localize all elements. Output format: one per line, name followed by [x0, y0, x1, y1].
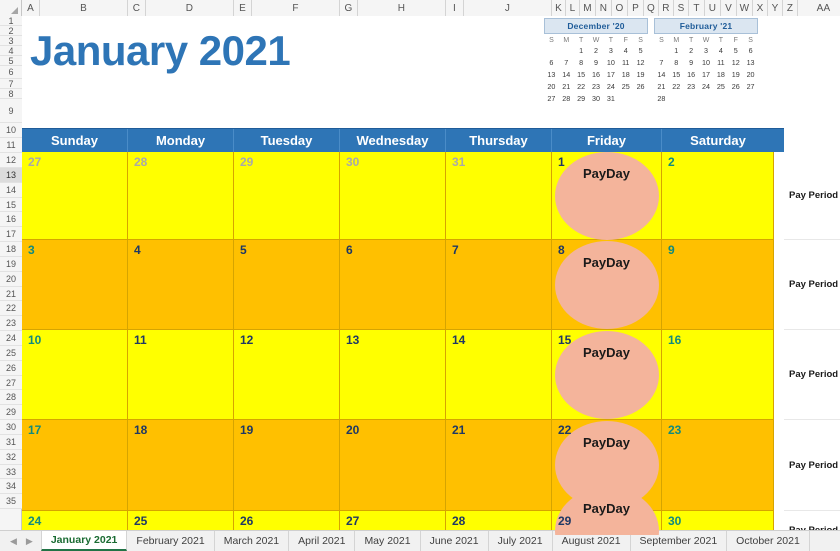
row-header-4[interactable]: 4 — [0, 46, 22, 56]
day-number: 2 — [668, 155, 675, 169]
day-number: 3 — [28, 243, 35, 257]
mini-day-16: 16 — [589, 69, 604, 81]
sheet-nav-next-icon[interactable]: ▶ — [26, 536, 33, 547]
mini-day-15: 15 — [669, 69, 684, 81]
mini-day-10: 10 — [699, 57, 714, 69]
mini-calendar-0: December '20SMTWTFS..1234567891011121314… — [544, 18, 648, 104]
mini-day-16: 16 — [684, 69, 699, 81]
day-number: 6 — [346, 243, 353, 257]
mini-day-3: 3 — [603, 45, 618, 57]
day-number: 10 — [28, 333, 41, 347]
calendar-week-row: 1718192021PayDay2223 — [22, 420, 784, 511]
row-header-31[interactable]: 31 — [0, 435, 22, 450]
day-number: 30 — [668, 514, 681, 528]
calendar-day-cell[interactable]: 23 — [662, 420, 774, 511]
column-header-H[interactable]: H — [358, 0, 446, 16]
mini-day-9: 9 — [684, 57, 699, 69]
weekday-header-tuesday: Tuesday — [234, 129, 340, 152]
day-number: 22 — [558, 423, 571, 437]
mini-calendars: December '20SMTWTFS..1234567891011121314… — [544, 18, 758, 104]
mini-day-30: 30 — [589, 92, 604, 104]
mini-day-12: 12 — [633, 57, 648, 69]
row-header-29[interactable]: 29 — [0, 405, 22, 420]
mini-day-28: 28 — [654, 92, 669, 104]
calendar-day-cell[interactable]: PayDay15 — [552, 330, 662, 420]
mini-day-6: 6 — [743, 45, 758, 57]
row-header-30[interactable]: 30 — [0, 420, 22, 435]
column-header-R[interactable]: R — [659, 0, 674, 16]
row-header-19[interactable]: 19 — [0, 257, 22, 272]
page-title: January 2021 — [30, 30, 290, 72]
mini-day-2: 2 — [684, 45, 699, 57]
mini-day-21: 21 — [559, 80, 574, 92]
mini-dow-label: M — [669, 36, 684, 45]
calendar-day-cell[interactable]: 12 — [234, 330, 340, 420]
calendar-day-cell[interactable]: 31 — [446, 152, 552, 240]
mini-day-24: 24 — [699, 80, 714, 92]
row-header-1[interactable]: 1 — [0, 16, 22, 26]
payday-badge[interactable]: PayDay — [555, 152, 659, 240]
column-header-T[interactable]: T — [689, 0, 705, 16]
column-header-U[interactable]: U — [705, 0, 721, 16]
row-header-22[interactable]: 22 — [0, 301, 22, 316]
mini-day-11: 11 — [618, 57, 633, 69]
column-header-W[interactable]: W — [737, 0, 753, 16]
mini-day-blank: . — [654, 45, 669, 57]
day-number: 27 — [346, 514, 359, 528]
sheet-tab-bar: ◀ ▶ January 2021February 2021March 2021A… — [0, 530, 840, 551]
mini-day-17: 17 — [603, 69, 618, 81]
mini-day-11: 11 — [713, 57, 728, 69]
mini-day-25: 25 — [618, 80, 633, 92]
day-number: 7 — [452, 243, 459, 257]
day-number: 19 — [240, 423, 253, 437]
row-header-8[interactable]: 8 — [0, 89, 22, 99]
row-header-6[interactable]: 6 — [0, 66, 22, 79]
row-header-21[interactable]: 21 — [0, 287, 22, 301]
row-header-5[interactable]: 5 — [0, 56, 22, 66]
day-number: 12 — [240, 333, 253, 347]
column-header-D[interactable]: D — [146, 0, 234, 16]
day-number: 13 — [346, 333, 359, 347]
row-header-13[interactable]: 13 — [0, 168, 22, 183]
column-header-A[interactable]: A — [22, 0, 40, 16]
day-number: 8 — [558, 243, 565, 257]
mini-day-3: 3 — [699, 45, 714, 57]
pay-period-label: Pay Period 4 — [784, 420, 840, 511]
mini-day-12: 12 — [728, 57, 743, 69]
mini-dow-label: F — [728, 36, 743, 45]
mini-day-4: 4 — [618, 45, 633, 57]
mini-day-27: 27 — [743, 80, 758, 92]
day-number: 1 — [558, 155, 565, 169]
mini-day-1: 1 — [669, 45, 684, 57]
mini-dow-label: S — [743, 36, 758, 45]
weekday-header-sunday: Sunday — [22, 129, 128, 152]
mini-day-23: 23 — [589, 80, 604, 92]
day-number: 21 — [452, 423, 465, 437]
weekday-header-friday: Friday — [552, 129, 662, 152]
payday-label: PayDay — [583, 435, 630, 450]
mini-day-26: 26 — [633, 80, 648, 92]
row-header-3[interactable]: 3 — [0, 36, 22, 46]
day-number: 5 — [240, 243, 247, 257]
mini-dow-label: S — [633, 36, 648, 45]
calendar-day-cell[interactable]: 17 — [22, 420, 128, 511]
day-number: 23 — [668, 423, 681, 437]
weekday-header-thursday: Thursday — [446, 129, 552, 152]
mini-day-25: 25 — [713, 80, 728, 92]
mini-day-7: 7 — [559, 57, 574, 69]
mini-day-21: 21 — [654, 80, 669, 92]
column-header-row: ABCDEFGHIJKLMNOPQRSTUVWXYZAAAE — [0, 0, 840, 16]
row-header-34[interactable]: 34 — [0, 479, 22, 494]
mini-day-29: 29 — [574, 92, 589, 104]
calendar-week-row: 2728293031PayDay12 — [22, 152, 784, 240]
mini-day-14: 14 — [559, 69, 574, 81]
calendar-day-cell[interactable]: 7 — [446, 240, 552, 330]
mini-dow-label: T — [603, 36, 618, 45]
column-header-O[interactable]: O — [612, 0, 628, 16]
column-header-C[interactable]: C — [128, 0, 146, 16]
column-header-G[interactable]: G — [340, 0, 358, 16]
calendar-day-cell[interactable]: 16 — [662, 330, 774, 420]
calendar-day-cell[interactable]: 2 — [662, 152, 774, 240]
row-header-18[interactable]: 18 — [0, 242, 22, 257]
calendar-day-cell[interactable]: PayDay8 — [552, 240, 662, 330]
mini-day-blank: . — [544, 45, 559, 57]
column-header-Z[interactable]: Z — [783, 0, 798, 16]
column-header-cells: ABCDEFGHIJKLMNOPQRSTUVWXYZAAAE — [22, 0, 840, 15]
row-header-17[interactable]: 17 — [0, 227, 22, 242]
day-number: 29 — [240, 155, 253, 169]
row-header-20[interactable]: 20 — [0, 272, 22, 287]
mini-day-23: 23 — [684, 80, 699, 92]
row-header-33[interactable]: 33 — [0, 465, 22, 479]
mini-dow-label: T — [684, 36, 699, 45]
column-header-F[interactable]: F — [252, 0, 340, 16]
calendar-day-cell[interactable]: 18 — [128, 420, 234, 511]
calendar-day-cell[interactable]: 20 — [340, 420, 446, 511]
day-number: 31 — [452, 155, 465, 169]
mini-day-8: 8 — [669, 57, 684, 69]
sheet-tab-march-2021[interactable]: March 2021 — [215, 531, 289, 551]
mini-day-13: 13 — [743, 57, 758, 69]
day-number: 14 — [452, 333, 465, 347]
sheet-nav-arrows[interactable]: ◀ ▶ — [0, 531, 41, 551]
calendar-day-cell[interactable]: 29 — [234, 152, 340, 240]
mini-day-26: 26 — [728, 80, 743, 92]
calendar-week-row: 1011121314PayDay1516 — [22, 330, 784, 420]
calendar-day-cell[interactable]: 13 — [340, 330, 446, 420]
day-number: 25 — [134, 514, 147, 528]
sheet-tab-january-2021[interactable]: January 2021 — [41, 531, 128, 551]
mini-day-2: 2 — [589, 45, 604, 57]
day-number: 24 — [28, 514, 41, 528]
mini-day-20: 20 — [743, 69, 758, 81]
day-number: 27 — [28, 155, 41, 169]
row-header-26[interactable]: 26 — [0, 361, 22, 376]
day-number: 28 — [452, 514, 465, 528]
row-header-24[interactable]: 24 — [0, 331, 22, 346]
calendar-day-cell[interactable]: 21 — [446, 420, 552, 511]
column-header-X[interactable]: X — [753, 0, 768, 16]
column-header-AA[interactable]: AA — [798, 0, 840, 16]
row-header-10[interactable]: 10 — [0, 123, 22, 138]
worksheet-grid[interactable]: January 2021 December '20SMTWTFS..123456… — [22, 16, 840, 535]
row-header-14[interactable]: 14 — [0, 183, 22, 198]
column-header-Y[interactable]: Y — [768, 0, 783, 16]
column-header-I[interactable]: I — [446, 0, 464, 16]
mini-dow-label: W — [699, 36, 714, 45]
calendar-day-cell[interactable]: 28 — [128, 152, 234, 240]
mini-calendar-grid: SMTWTFS.12345678910111213141516171819202… — [654, 34, 758, 104]
row-header-9[interactable]: 9 — [0, 99, 22, 123]
day-number: 29 — [558, 514, 571, 528]
mini-day-17: 17 — [699, 69, 714, 81]
calendar-day-cell[interactable]: 11 — [128, 330, 234, 420]
column-header-B[interactable]: B — [40, 0, 128, 16]
column-header-E[interactable]: E — [234, 0, 252, 16]
mini-calendar-title: December '20 — [544, 18, 648, 34]
mini-day-9: 9 — [589, 57, 604, 69]
weekday-header-saturday: Saturday — [662, 129, 774, 152]
mini-calendar-title: February '21 — [654, 18, 758, 34]
mini-day-19: 19 — [633, 69, 648, 81]
mini-day-blank: . — [559, 45, 574, 57]
select-all-corner[interactable] — [0, 0, 22, 16]
calendar-day-cell[interactable]: 5 — [234, 240, 340, 330]
payday-label: PayDay — [583, 166, 630, 181]
pay-period-column: Pay Period 1Pay Period 2Pay Period 3Pay … — [784, 152, 840, 535]
mini-day-31: 31 — [603, 92, 618, 104]
weekday-header-wednesday: Wednesday — [340, 129, 446, 152]
sheet-tab-july-2021[interactable]: July 2021 — [489, 531, 553, 551]
column-header-Q[interactable]: Q — [644, 0, 659, 16]
row-header-28[interactable]: 28 — [0, 390, 22, 405]
mini-dow-label: T — [713, 36, 728, 45]
day-number: 15 — [558, 333, 571, 347]
row-header-35[interactable]: 35 — [0, 494, 22, 509]
pay-period-label: Pay Period 1 — [784, 152, 840, 240]
mini-day-1: 1 — [574, 45, 589, 57]
row-header-7[interactable]: 7 — [0, 79, 22, 89]
day-number: 9 — [668, 243, 675, 257]
column-header-S[interactable]: S — [674, 0, 689, 16]
mini-day-4: 4 — [713, 45, 728, 57]
payday-label: PayDay — [583, 345, 630, 360]
day-number: 4 — [134, 243, 141, 257]
row-header-11[interactable]: 11 — [0, 138, 22, 153]
mini-day-8: 8 — [574, 57, 589, 69]
mini-dow-label: T — [574, 36, 589, 45]
mini-day-5: 5 — [633, 45, 648, 57]
day-number: 28 — [134, 155, 147, 169]
mini-day-19: 19 — [728, 69, 743, 81]
mini-dow-label: S — [544, 36, 559, 45]
mini-day-5: 5 — [728, 45, 743, 57]
sheet-nav-prev-icon[interactable]: ◀ — [10, 536, 17, 547]
row-header-27[interactable]: 27 — [0, 376, 22, 390]
mini-day-28: 28 — [559, 92, 574, 104]
sheet-tab-october-2021[interactable]: October 2021 — [727, 531, 810, 551]
sheet-tab-may-2021[interactable]: May 2021 — [355, 531, 420, 551]
mini-dow-label: F — [618, 36, 633, 45]
day-number: 30 — [346, 155, 359, 169]
row-header-column: 1234567891011121314151617181920212223242… — [0, 16, 22, 535]
payday-label: PayDay — [583, 501, 630, 516]
mini-calendar-grid: SMTWTFS..1234567891011121314151617181920… — [544, 34, 648, 104]
calendar-day-cell[interactable]: 27 — [22, 152, 128, 240]
mini-day-24: 24 — [603, 80, 618, 92]
calendar-day-cell[interactable]: PayDay1 — [552, 152, 662, 240]
weekday-header-banner: SundayMondayTuesdayWednesdayThursdayFrid… — [22, 128, 784, 152]
day-number: 17 — [28, 423, 41, 437]
mini-day-7: 7 — [654, 57, 669, 69]
pay-period-label: Pay Period 3 — [784, 330, 840, 420]
mini-day-20: 20 — [544, 80, 559, 92]
mini-day-22: 22 — [669, 80, 684, 92]
column-header-M[interactable]: M — [580, 0, 596, 16]
row-header-16[interactable]: 16 — [0, 212, 22, 227]
mini-day-18: 18 — [618, 69, 633, 81]
calendar-day-cell[interactable]: 6 — [340, 240, 446, 330]
calendar-day-cell[interactable]: 4 — [128, 240, 234, 330]
sheet-tab-june-2021[interactable]: June 2021 — [421, 531, 489, 551]
day-number: 16 — [668, 333, 681, 347]
sheet-tab-april-2021[interactable]: April 2021 — [289, 531, 355, 551]
row-header-32[interactable]: 32 — [0, 450, 22, 465]
mini-calendar-1: February '21SMTWTFS.12345678910111213141… — [654, 18, 758, 104]
calendar-day-cell[interactable]: 9 — [662, 240, 774, 330]
calendar-day-cell[interactable]: 19 — [234, 420, 340, 511]
calendar-day-cell[interactable]: 14 — [446, 330, 552, 420]
column-header-L[interactable]: L — [566, 0, 580, 16]
payday-label: PayDay — [583, 255, 630, 270]
day-number: 11 — [134, 333, 147, 347]
day-number: 26 — [240, 514, 253, 528]
mini-day-6: 6 — [544, 57, 559, 69]
calendar-day-cell[interactable]: 3 — [22, 240, 128, 330]
calendar-day-cell[interactable]: 10 — [22, 330, 128, 420]
mini-day-15: 15 — [574, 69, 589, 81]
row-header-12[interactable]: 12 — [0, 153, 22, 168]
calendar-week-row: 34567PayDay89 — [22, 240, 784, 330]
pay-period-label: Pay Period 2 — [784, 240, 840, 330]
column-header-J[interactable]: J — [464, 0, 552, 16]
row-header-15[interactable]: 15 — [0, 198, 22, 212]
mini-day-14: 14 — [654, 69, 669, 81]
day-number: 18 — [134, 423, 147, 437]
mini-day-22: 22 — [574, 80, 589, 92]
mini-day-18: 18 — [713, 69, 728, 81]
weekday-header-monday: Monday — [128, 129, 234, 152]
mini-day-27: 27 — [544, 92, 559, 104]
mini-dow-label: M — [559, 36, 574, 45]
column-header-P[interactable]: P — [628, 0, 644, 16]
calendar-day-cell[interactable]: PayDay29 — [552, 511, 662, 535]
day-number: 20 — [346, 423, 359, 437]
payday-badge[interactable]: PayDay — [555, 241, 659, 329]
calendar-day-cell[interactable]: 30 — [340, 152, 446, 240]
mini-dow-label: W — [589, 36, 604, 45]
sheet-tab-february-2021[interactable]: February 2021 — [127, 531, 214, 551]
excel-calendar-window: ABCDEFGHIJKLMNOPQRSTUVWXYZAAAE 123456789… — [0, 0, 840, 551]
row-header-23[interactable]: 23 — [0, 316, 22, 331]
mini-day-10: 10 — [603, 57, 618, 69]
calendar-weeks: 2728293031PayDay1234567PayDay89101112131… — [22, 152, 784, 535]
mini-dow-label: S — [654, 36, 669, 45]
column-header-V[interactable]: V — [721, 0, 737, 16]
column-header-N[interactable]: N — [596, 0, 612, 16]
mini-day-13: 13 — [544, 69, 559, 81]
column-header-K[interactable]: K — [552, 0, 566, 16]
row-header-2[interactable]: 2 — [0, 26, 22, 36]
sheet-tabs: January 2021February 2021March 2021April… — [41, 531, 810, 551]
row-header-25[interactable]: 25 — [0, 346, 22, 361]
